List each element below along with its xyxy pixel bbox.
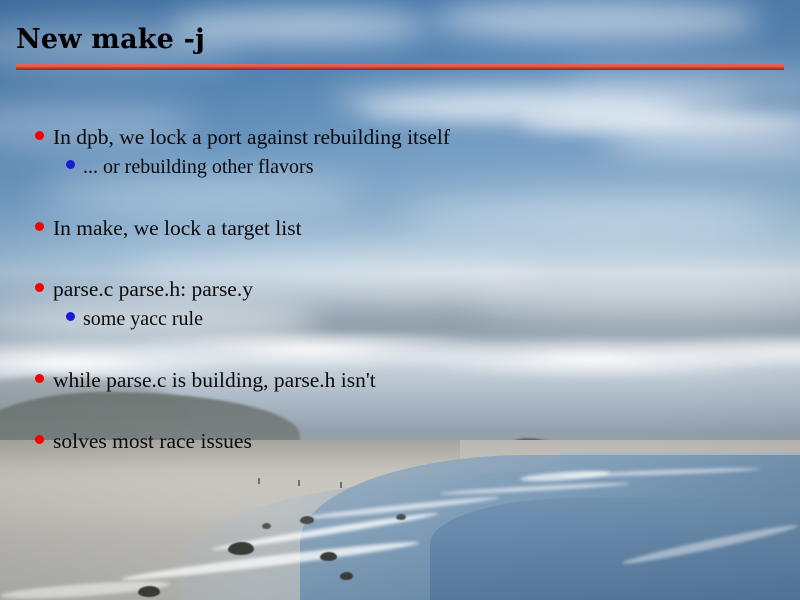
beach-stone [396, 514, 406, 520]
bullet-text: solves most race issues [53, 428, 252, 454]
distant-person [258, 478, 260, 484]
ocean-foreground [430, 498, 800, 600]
beach-stone [138, 586, 160, 597]
bullet-text: parse.c parse.h: parse.y [53, 276, 253, 302]
beach-stone [262, 523, 271, 529]
bullet-item: some yacc rule [0, 307, 800, 332]
bullet-dot-icon [35, 131, 44, 140]
distant-person [340, 482, 342, 488]
bullet-dot-icon [35, 222, 44, 231]
slide-body: In dpb, we lock a port against rebuildin… [0, 124, 800, 459]
presentation-slide: New make -j In dpb, we lock a port again… [0, 0, 800, 600]
bullet-item: In make, we lock a target list [0, 215, 800, 241]
beach-stone [228, 542, 254, 555]
slide-title: New make -j [16, 24, 205, 56]
bullet-item: solves most race issues [0, 428, 800, 454]
bullet-text: while parse.c is building, parse.h isn't [53, 367, 376, 393]
bullet-item: In dpb, we lock a port against rebuildin… [0, 124, 800, 150]
bullet-dot-icon [66, 160, 75, 169]
bullet-text: some yacc rule [83, 307, 203, 332]
bullet-item: ... or rebuilding other flavors [0, 155, 800, 180]
bullet-dot-icon [35, 435, 44, 444]
bullet-dot-icon [66, 312, 75, 321]
bullet-item: while parse.c is building, parse.h isn't [0, 367, 800, 393]
beach-stone [320, 552, 337, 561]
beach-stone [340, 572, 353, 580]
cloud-wisp [430, 0, 760, 40]
title-underline-rule [16, 64, 784, 70]
bullet-text: ... or rebuilding other flavors [83, 155, 314, 180]
bullet-dot-icon [35, 283, 44, 292]
distant-person [298, 480, 300, 486]
bullet-dot-icon [35, 374, 44, 383]
bullet-item: parse.c parse.h: parse.y [0, 276, 800, 302]
bullet-text: In make, we lock a target list [53, 215, 302, 241]
beach-stone [300, 516, 314, 524]
cloud-wisp [170, 8, 430, 44]
bullet-text: In dpb, we lock a port against rebuildin… [53, 124, 450, 150]
